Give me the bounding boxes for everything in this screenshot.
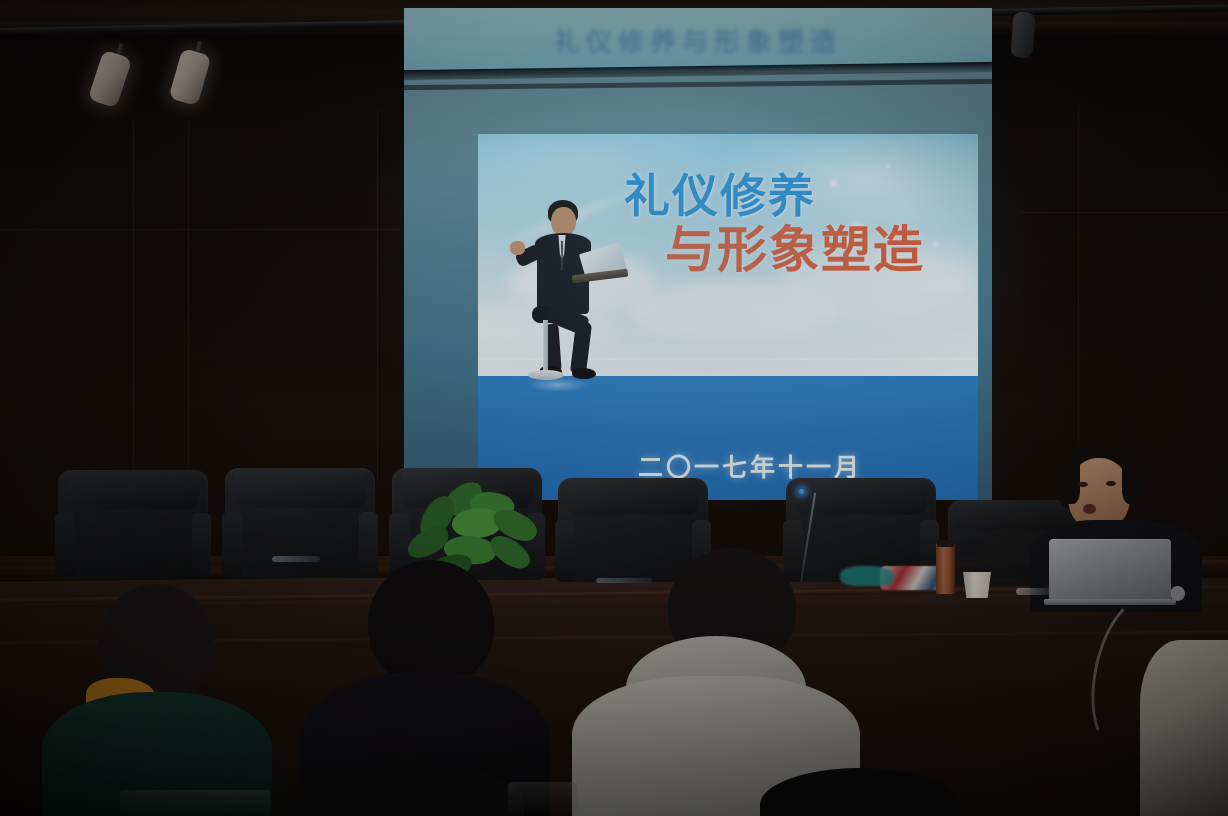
presenter-eye-left [1078,482,1088,487]
audience-4-body [1140,640,1228,816]
chair-1 [58,470,208,578]
audience-member-6 [760,768,960,816]
wall-seam [377,110,378,480]
sparkle [886,164,890,168]
screen-top-banner: 礼仪修养与形象塑造 [404,8,992,72]
slide-businessman-figure [510,200,630,396]
audience-member-1 [42,584,272,816]
chair-arm-left [222,512,242,578]
stool-post [543,320,548,374]
spotlight-body [1010,11,1035,58]
paper-cup [963,572,991,598]
audience-6-head [760,768,960,816]
wall-seam [188,120,189,480]
thermos-cap [937,540,954,547]
presenter-hair-side [1054,454,1080,504]
audience-member-5 [288,762,524,816]
wall-seam [1020,212,1228,213]
microphone-led-indicator [799,489,804,494]
presenter-eye-right [1106,481,1116,486]
presenter-mouth [1083,504,1096,514]
wall-seam [1078,106,1079,486]
chair-headrest [234,468,366,508]
spotlight-5-icon [1010,11,1035,58]
sparkle [933,242,938,247]
figure-shoe [572,368,596,379]
lecture-hall-photo: 礼仪修养与形象塑造 [0,0,1228,816]
slide-title-line-2: 与形象塑造 [665,210,925,282]
figure-reflection [528,378,588,392]
chair-arm-left [55,513,75,578]
audience-member-4 [1140,640,1228,816]
chair-arm-right [192,513,212,578]
wall-seam [0,229,400,230]
thermos [936,542,955,594]
projection-screen: 礼仪修养与形象塑造 [404,8,992,500]
audience-2-head [368,560,494,686]
figure-left-hand [510,241,525,255]
audience-1-body [42,692,272,816]
banner-ghost-text: 礼仪修养与形象塑造 [554,22,842,59]
presenter-hair-side-2 [1122,452,1148,504]
chair-headrest [567,478,699,515]
presentation-slide: 礼仪修养 与形象塑造 二〇一七年十一月 [478,134,978,500]
figure-head [551,207,576,236]
wall-seam [133,120,134,480]
sparkle [830,180,837,187]
chair-headrest [67,470,199,509]
macbook-lid [1049,539,1171,601]
audience-5-head [288,762,524,816]
